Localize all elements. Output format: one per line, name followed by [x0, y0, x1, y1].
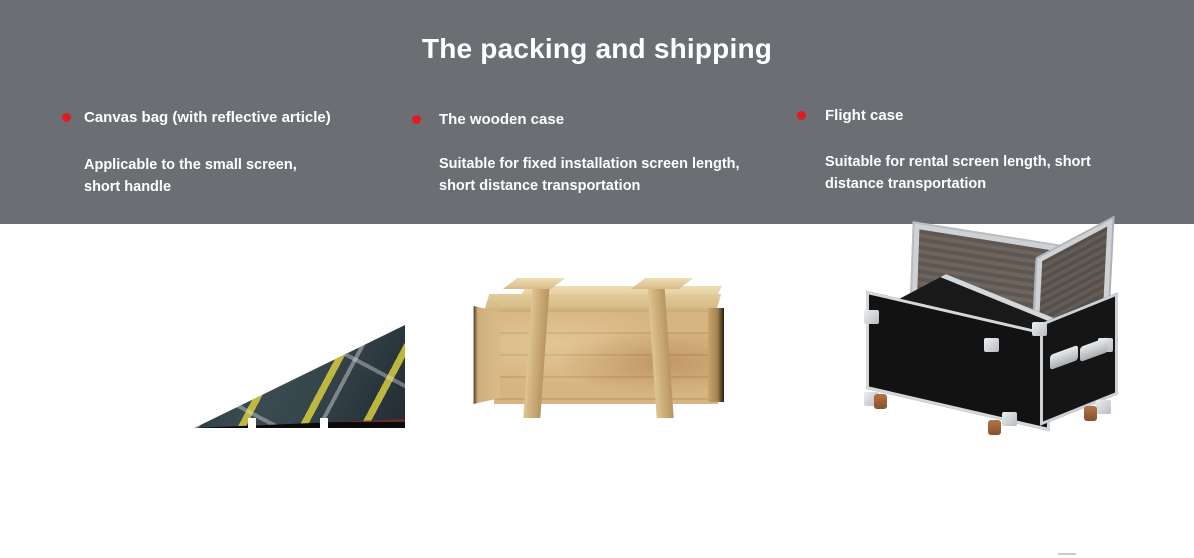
bullet-row-flight-case: Flight case: [797, 106, 1157, 126]
column-flight-case: Flight case Suitable for rental screen l…: [797, 106, 1157, 195]
flight-case-caster: [988, 420, 1001, 435]
column-title-wooden-case: The wooden case: [439, 110, 772, 130]
column-description-canvas-bag: Applicable to the small screen, short ha…: [84, 154, 402, 198]
column-canvas-bag: Canvas bag (with reflective article) App…: [62, 108, 402, 198]
wooden-case-photo: [470, 276, 730, 418]
flight-case-corner-brace: [864, 310, 879, 324]
column-description-wooden-case: Suitable for fixed installation screen l…: [439, 153, 772, 197]
flight-case-caster: [1084, 406, 1097, 421]
crate-left-face: [470, 306, 500, 404]
column-title-flight-case: Flight case: [825, 106, 1157, 126]
column-description-flight-case: Suitable for rental screen length, short…: [825, 151, 1157, 195]
bullet-row-wooden-case: The wooden case: [412, 110, 772, 130]
bag-gap: [248, 418, 256, 428]
red-dot-bullet-icon: [62, 113, 71, 122]
column-wooden-case: The wooden case Suitable for fixed insta…: [412, 110, 772, 197]
header-banner: The packing and shipping Canvas bag (wit…: [0, 0, 1194, 224]
flight-case-corner-brace: [1002, 412, 1017, 426]
bag-handles: [190, 325, 405, 428]
crate-right-edge: [708, 308, 724, 402]
red-dot-bullet-icon: [797, 111, 806, 120]
page-title: The packing and shipping: [0, 30, 1194, 68]
column-title-canvas-bag: Canvas bag (with reflective article): [84, 108, 402, 128]
page-edge-artifact: [1058, 553, 1076, 555]
bullet-row-canvas-bag: Canvas bag (with reflective article): [62, 108, 402, 128]
flight-case-corner-brace: [1032, 322, 1047, 336]
flight-case-corner-brace: [984, 338, 999, 352]
flight-case-corner-brace: [1096, 400, 1111, 414]
bag-gap: [320, 418, 328, 428]
slide-canvas: The packing and shipping Canvas bag (wit…: [0, 0, 1194, 558]
flight-case-caster: [874, 394, 887, 409]
canvas-bag-photo: [190, 325, 405, 428]
flight-case-photo: [848, 234, 1140, 430]
red-dot-bullet-icon: [412, 115, 421, 124]
